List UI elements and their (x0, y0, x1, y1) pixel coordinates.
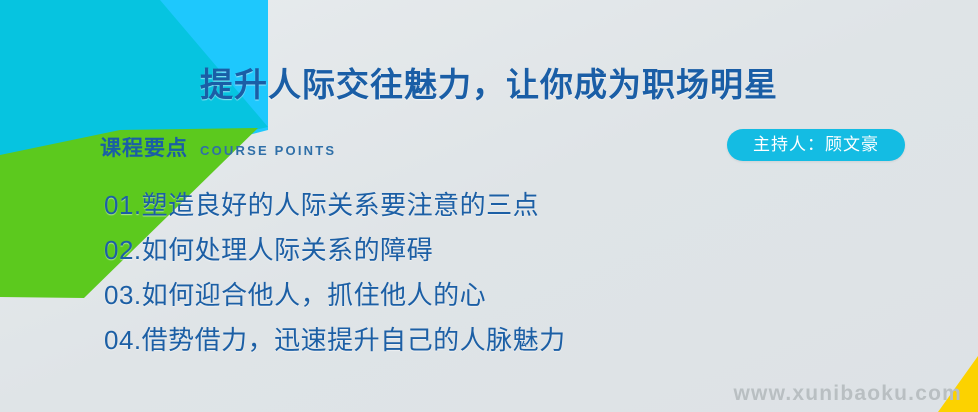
list-item-text: 借势借力，迅速提升自己的人脉魅力 (142, 325, 566, 355)
list-item-number: 04. (104, 325, 142, 355)
list-item-text: 塑造良好的人际关系要注意的三点 (142, 190, 540, 220)
list-item-text: 如何迎合他人，抓住他人的心 (142, 280, 487, 310)
list-item-number: 02. (104, 235, 142, 265)
page-title: 提升人际交往魅力，让你成为职场明星 (0, 58, 978, 106)
presentation-slide: 提升人际交往魅力，让你成为职场明星 课程要点 COURSE POINTS 主持人… (0, 0, 978, 412)
list-item: 02.如何处理人际关系的障碍 (104, 228, 864, 273)
list-item: 01.塑造良好的人际关系要注意的三点 (104, 183, 864, 228)
host-badge: 主持人：顾文豪 (727, 129, 905, 161)
list-item-number: 01. (104, 190, 142, 220)
course-points-list: 01.塑造良好的人际关系要注意的三点 02.如何处理人际关系的障碍 03.如何迎… (104, 183, 864, 363)
list-item-number: 03. (104, 280, 142, 310)
watermark: www.xunibaoku.com (734, 382, 962, 406)
list-item-text: 如何处理人际关系的障碍 (142, 235, 434, 265)
section-heading-en: COURSE POINTS (200, 143, 336, 158)
section-heading-cn: 课程要点 (100, 132, 188, 162)
section-heading: 课程要点 COURSE POINTS (100, 132, 336, 162)
list-item: 04.借势借力，迅速提升自己的人脉魅力 (104, 318, 864, 363)
list-item: 03.如何迎合他人，抓住他人的心 (104, 273, 864, 318)
